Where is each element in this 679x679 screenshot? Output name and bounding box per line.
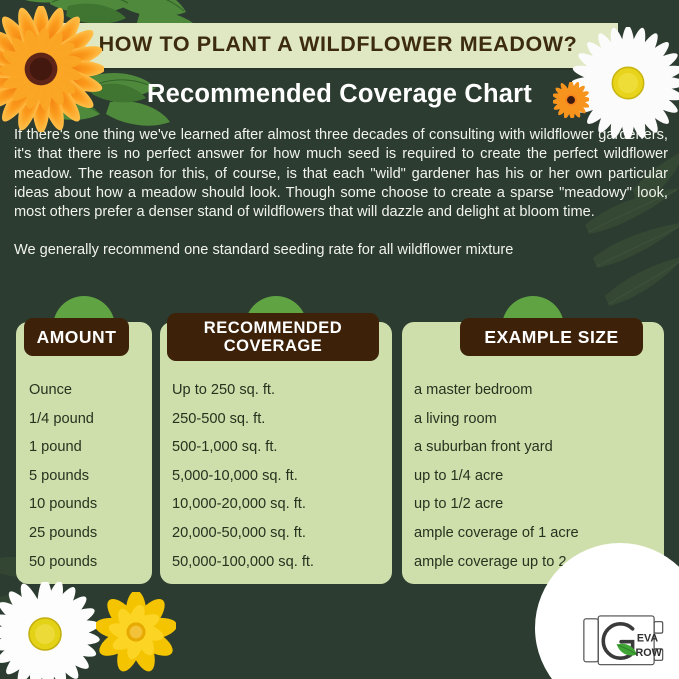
table-row: 1 pound xyxy=(29,433,149,462)
table-row: 10 pounds xyxy=(29,490,149,519)
table-row: a suburban front yard xyxy=(414,433,662,462)
table-row: 500-1,000 sq. ft. xyxy=(172,433,388,462)
table-row: 1/4 pound xyxy=(29,405,149,434)
page-title: HOW TO PLANT A WILDFLOWER MEADOW? xyxy=(58,32,618,57)
table-row: a master bedroom xyxy=(414,376,662,405)
column-header-amount-label: AMOUNT xyxy=(37,328,117,346)
orange-calendula-flower-icon xyxy=(0,6,104,132)
table-row: 5,000-10,000 sq. ft. xyxy=(172,462,388,491)
yellow-coreopsis-flower-icon xyxy=(96,592,176,672)
table-row: 250-500 sq. ft. xyxy=(172,405,388,434)
table-row: 10,000-20,000 sq. ft. xyxy=(172,490,388,519)
column-header-coverage: RECOMMENDED COVERAGE xyxy=(167,313,379,361)
column-values-coverage: Up to 250 sq. ft. 250-500 sq. ft. 500-1,… xyxy=(172,376,388,576)
table-row: Ounce xyxy=(29,376,149,405)
column-header-coverage-line1: RECOMMENDED xyxy=(204,319,342,337)
table-row: Up to 250 sq. ft. xyxy=(172,376,388,405)
table-row: 5 pounds xyxy=(29,462,149,491)
column-header-example: EXAMPLE SIZE xyxy=(460,318,643,356)
table-row: a living room xyxy=(414,405,662,434)
logo-row-text: ROW xyxy=(635,647,662,659)
table-row: up to 1/2 acre xyxy=(414,490,662,519)
column-header-coverage-line2: COVERAGE xyxy=(224,337,322,355)
orange-calendula-small-flower-icon xyxy=(553,82,589,118)
table-row: 50,000-100,000 sq. ft. xyxy=(172,548,388,577)
table-row: up to 1/4 acre xyxy=(414,462,662,491)
table-row: 20,000-50,000 sq. ft. xyxy=(172,519,388,548)
table-row: 25 pounds xyxy=(29,519,149,548)
column-header-amount: AMOUNT xyxy=(24,318,129,356)
table-row: 50 pounds xyxy=(29,548,149,577)
white-daisy-flower-bottom-icon xyxy=(0,582,104,679)
header-banner: HOW TO PLANT A WILDFLOWER MEADOW? xyxy=(58,23,618,68)
second-paragraph: We generally recommend one standard seed… xyxy=(14,241,668,260)
eva-grow-logo: EVA ROW xyxy=(581,613,667,669)
infographic-poster: HOW TO PLANT A WILDFLOWER MEADOW? Recomm… xyxy=(0,0,679,679)
intro-paragraph: If there's one thing we've learned after… xyxy=(14,126,668,222)
column-values-amount: Ounce 1/4 pound 1 pound 5 pounds 10 poun… xyxy=(29,376,149,576)
logo-eva-text: EVA xyxy=(637,633,659,645)
column-header-example-label: EXAMPLE SIZE xyxy=(484,328,618,346)
intro-text-block: If there's one thing we've learned after… xyxy=(14,126,668,261)
